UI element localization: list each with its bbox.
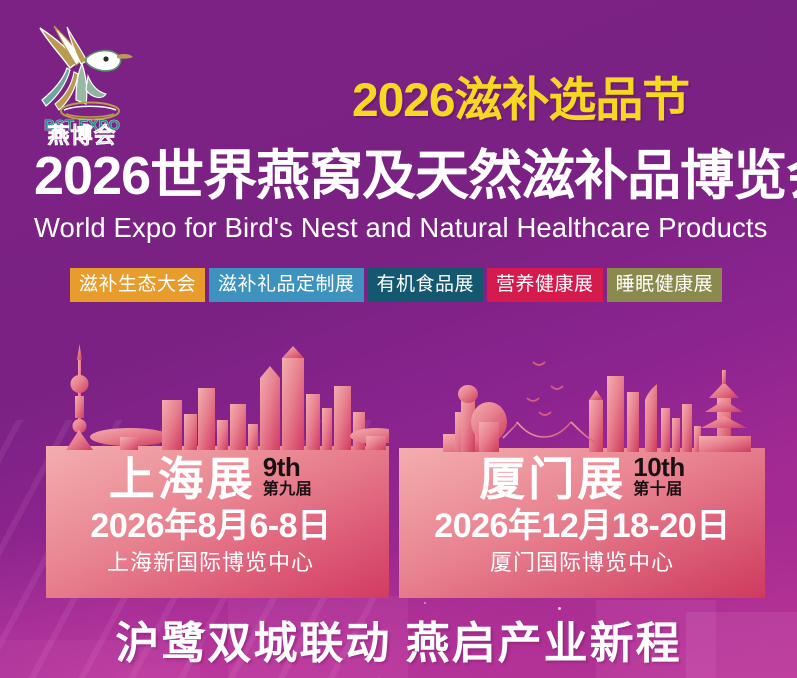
edition-block: 10th 第十届	[633, 454, 684, 502]
edition-number-en: 10th	[633, 454, 684, 480]
badge-nutrition-health[interactable]: 营养健康展	[487, 268, 603, 302]
page-title: 2026世界燕窝及天然滋补品博览会	[34, 148, 774, 204]
city-card-shanghai[interactable]: 上海展 9th 第九届 2026年8月6-8日 上海新国际博览中心	[32, 338, 389, 598]
festival-headline: 2026滋补选品节	[352, 76, 791, 123]
badge-ecology-conference[interactable]: 滋补生态大会	[70, 268, 205, 302]
badge-sleep-health[interactable]: 睡眠健康展	[607, 268, 723, 302]
event-date: 2026年12月18-20日	[399, 508, 765, 545]
edition-number-en: 9th	[263, 454, 301, 480]
topic-badge-row: 滋补生态大会 滋补礼品定制展 有机食品展 营养健康展 睡眠健康展	[70, 268, 722, 302]
badge-organic-food[interactable]: 有机食品展	[368, 268, 484, 302]
expo-logo[interactable]: BST EXPO . 燕博会	[26, 18, 138, 142]
city-card-xiamen[interactable]: 厦门展 10th 第十届 2026年12月18-20日 厦门国际博览中心	[399, 338, 765, 598]
swallow-bird-icon	[40, 26, 133, 120]
edition-number-cn: 第十届	[633, 480, 683, 499]
bottom-tagline: 沪鹭双城联动 燕启产业新程	[0, 622, 797, 666]
xiamen-card-text: 厦门展 10th 第十届 2026年12月18-20日 厦门国际博览中心	[399, 446, 765, 598]
page-subtitle: World Expo for Bird's Nest and Natural H…	[34, 212, 774, 244]
edition-number-cn: 第九届	[263, 480, 313, 499]
city-name: 厦门展	[479, 456, 626, 502]
event-date: 2026年8月6-8日	[32, 508, 389, 545]
shanghai-card-text: 上海展 9th 第九届 2026年8月6-8日 上海新国际博览中心	[32, 446, 389, 598]
edition-block: 9th 第九届	[263, 454, 313, 502]
sparkle-dot	[424, 602, 426, 604]
city-name: 上海展	[109, 456, 256, 502]
event-venue: 上海新国际博览中心	[32, 550, 389, 576]
sparkle-dot	[558, 607, 561, 610]
flying-birds	[527, 362, 563, 415]
badge-gift-customization[interactable]: 滋补礼品定制展	[209, 268, 364, 302]
event-venue: 厦门国际博览中心	[399, 550, 765, 576]
expo-banner: BST EXPO . 燕博会 2026滋补选品节 2026世界燕窝及天然滋补品博…	[0, 0, 797, 678]
